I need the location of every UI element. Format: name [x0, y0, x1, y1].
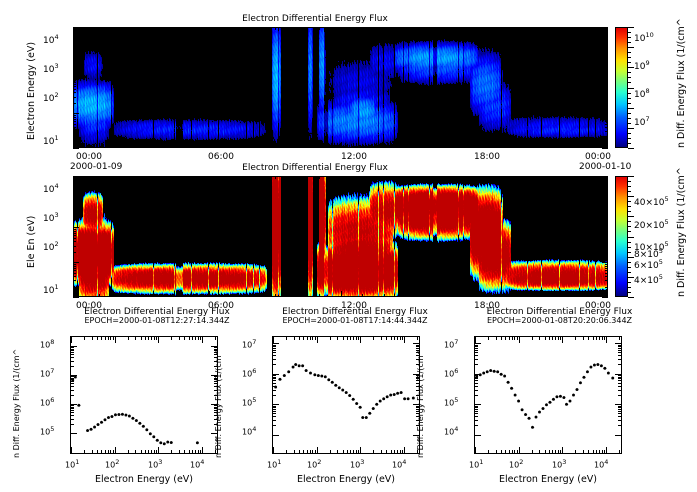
axis-tick: [73, 54, 76, 55]
axis-tick: [297, 294, 298, 297]
axis-tick: [605, 235, 608, 236]
spectrum-1-xtick-2: 102: [105, 458, 119, 470]
axis-tick: [428, 176, 429, 179]
axis-tick: [143, 27, 144, 30]
axis-tick: [605, 49, 608, 50]
axis-tick: [406, 176, 407, 179]
axis-tick: [73, 211, 76, 212]
axis-tick: [319, 27, 320, 30]
axis-tick: [73, 82, 76, 83]
axis-tick: [73, 44, 79, 45]
axis-tick: [605, 196, 608, 197]
axis-tick: [605, 33, 608, 34]
axis-tick: [605, 203, 608, 204]
colorbar-tick: [628, 47, 634, 48]
axis-tick: [605, 121, 608, 122]
colorbar-tick: [628, 287, 631, 288]
axis-tick: [73, 241, 76, 242]
mid-ytick-1: 101: [43, 283, 59, 296]
colorbar-tick: [628, 128, 634, 129]
colorbar-tick: [628, 297, 634, 298]
colorbar-tick: [628, 176, 634, 177]
axis-tick: [73, 113, 79, 114]
axis-tick: [187, 27, 188, 30]
axis-tick: [605, 200, 608, 201]
colorbar-tick: [628, 247, 631, 248]
colorbar-tick: [628, 72, 631, 73]
axis-tick: [99, 176, 100, 179]
colorbar-tick: [628, 282, 631, 283]
axis-tick: [362, 294, 363, 297]
axis-tick: [187, 176, 188, 179]
axis-tick: [605, 211, 608, 212]
spectrum-2-xtick-3: 103: [350, 458, 364, 470]
top-ytick-2: 102: [43, 91, 59, 104]
colorbar-tick: [628, 267, 631, 268]
top-colorbar: [615, 27, 628, 148]
axis-tick: [494, 176, 495, 179]
colorbar-tick: [628, 186, 631, 187]
colorbar-tick: [628, 272, 631, 273]
mid-cbar-tick-20: 20×105: [634, 218, 669, 231]
axis-tick: [143, 145, 144, 148]
axis-tick: [275, 294, 276, 297]
axis-tick: [582, 145, 583, 148]
top-cbar-tick-9: 109: [634, 59, 650, 72]
axis-tick: [450, 27, 451, 30]
axis-tick: [73, 62, 76, 63]
axis-tick: [605, 176, 608, 177]
axis-tick: [297, 27, 298, 30]
colorbar-tick: [628, 181, 631, 182]
spectrum-2-ytick-6: 106: [242, 367, 256, 379]
colorbar-tick: [628, 148, 634, 149]
axis-tick: [450, 176, 451, 179]
axis-tick: [605, 207, 608, 208]
axis-tick: [73, 238, 76, 239]
colorbar-tick: [628, 98, 631, 99]
spectrum-2-points: [273, 337, 419, 453]
axis-tick: [605, 138, 608, 139]
axis-tick: [143, 176, 144, 179]
colorbar-tick: [628, 42, 631, 43]
axis-tick: [73, 138, 76, 139]
colorbar-tick: [628, 108, 634, 109]
axis-tick: [472, 142, 473, 148]
axis-tick: [319, 176, 320, 179]
axis-tick: [99, 294, 100, 297]
axis-tick: [73, 280, 76, 281]
axis-tick: [143, 294, 144, 297]
colorbar-tick: [628, 226, 631, 227]
axis-tick: [73, 229, 76, 230]
top-cbar-tick-10: 1010: [634, 31, 654, 44]
axis-tick: [99, 145, 100, 148]
top-spectrogram-plot: [73, 27, 608, 148]
axis-tick: [73, 266, 76, 267]
axis-tick: [73, 131, 76, 132]
axis-tick: [73, 68, 76, 69]
axis-tick: [231, 176, 232, 179]
top-panel-title: Electron Differential Energy Flux: [0, 14, 630, 24]
axis-tick: [605, 246, 608, 247]
axis-tick: [319, 145, 320, 148]
axis-tick: [605, 270, 608, 271]
axis-tick: [341, 176, 342, 182]
axis-tick: [605, 231, 608, 232]
axis-tick: [605, 86, 608, 87]
axis-tick: [77, 176, 78, 182]
axis-tick: [602, 113, 608, 114]
axis-tick: [605, 238, 608, 239]
spectrum-3-subtitle: EPOCH=2000-01-08T20:20:06.344Z: [452, 316, 667, 325]
axis-tick: [605, 264, 608, 265]
axis-tick: [605, 217, 608, 218]
axis-tick: [209, 176, 210, 182]
colorbar-tick: [628, 196, 634, 197]
axis-tick: [406, 27, 407, 30]
axis-tick: [605, 124, 608, 125]
axis-tick: [605, 182, 608, 183]
spectrum-3-plot: [474, 336, 622, 454]
axis-tick: [605, 47, 608, 48]
axis-tick: [560, 145, 561, 148]
spectrum-3-xlabel: Electron Energy (eV): [474, 474, 622, 485]
axis-tick: [231, 294, 232, 297]
axis-tick: [605, 127, 608, 128]
axis-tick: [275, 176, 276, 179]
colorbar-tick: [628, 252, 631, 253]
axis-tick: [73, 127, 76, 128]
colorbar-tick: [628, 143, 631, 144]
axis-tick: [73, 176, 76, 177]
axis-tick: [73, 287, 76, 288]
axis-tick: [73, 115, 76, 116]
axis-tick: [73, 103, 76, 104]
colorbar-tick: [628, 27, 634, 28]
axis-tick: [516, 294, 517, 297]
top-ytick-3: 103: [43, 62, 59, 75]
axis-tick: [209, 27, 210, 33]
axis-tick: [73, 207, 76, 208]
axis-tick: [73, 262, 79, 263]
colorbar-tick: [628, 138, 631, 139]
axis-tick: [582, 176, 583, 179]
top-xtick-1: 06:00: [208, 152, 234, 162]
axis-tick: [362, 27, 363, 30]
axis-tick: [516, 176, 517, 179]
spectrum-2-xtick-1: 101: [267, 458, 281, 470]
axis-tick: [602, 227, 608, 228]
axis-tick: [165, 176, 166, 179]
axis-tick: [384, 176, 385, 179]
colorbar-tick: [628, 201, 631, 202]
axis-tick: [73, 45, 76, 46]
axis-tick: [605, 194, 608, 195]
axis-tick: [187, 145, 188, 148]
colorbar-tick: [628, 257, 634, 258]
axis-tick: [73, 78, 79, 79]
axis-tick: [99, 27, 100, 30]
axis-tick: [73, 231, 76, 232]
mid-spectrogram-plot: [73, 176, 608, 297]
axis-tick: [73, 198, 76, 199]
axis-tick: [605, 27, 608, 28]
axis-tick: [121, 176, 122, 179]
axis-tick: [73, 86, 76, 87]
axis-tick: [73, 148, 79, 149]
colorbar-tick: [628, 77, 631, 78]
spectrum-2-xlabel: Electron Energy (eV): [272, 474, 420, 485]
axis-tick: [605, 115, 608, 116]
axis-tick: [605, 51, 608, 52]
axis-tick: [494, 145, 495, 148]
spectrum-1-plot: [70, 336, 218, 454]
axis-tick: [605, 241, 608, 242]
top-ytick-4: 104: [43, 33, 59, 46]
axis-tick: [73, 47, 76, 48]
axis-tick: [73, 264, 76, 265]
axis-tick: [253, 294, 254, 297]
axis-tick: [604, 27, 605, 33]
top-xtick-2: 12:00: [341, 152, 367, 162]
colorbar-tick: [628, 231, 631, 232]
axis-tick: [275, 27, 276, 30]
axis-tick: [605, 119, 608, 120]
axis-tick: [472, 27, 473, 33]
axis-tick: [121, 27, 122, 30]
axis-tick: [582, 27, 583, 30]
axis-tick: [165, 145, 166, 148]
axis-tick: [73, 235, 76, 236]
colorbar-tick: [628, 133, 631, 134]
spectrum-1-xtick-3: 103: [148, 458, 162, 470]
axis-tick: [605, 276, 608, 277]
axis-tick: [73, 233, 76, 234]
axis-tick: [253, 27, 254, 30]
colorbar-tick: [628, 262, 631, 263]
mid-ylabel: Ele En (eV): [26, 216, 37, 268]
axis-tick: [605, 280, 608, 281]
axis-tick: [605, 198, 608, 199]
axis-tick: [121, 145, 122, 148]
axis-tick: [73, 89, 76, 90]
colorbar-tick: [628, 123, 631, 124]
axis-tick: [538, 176, 539, 179]
axis-tick: [209, 291, 210, 297]
axis-tick: [73, 276, 76, 277]
axis-tick: [494, 294, 495, 297]
axis-tick: [605, 117, 608, 118]
axis-tick: [121, 294, 122, 297]
top-xtick-0: 00:00: [76, 152, 102, 162]
spectrum-2-ylabel: n Diff. Energy Flux (1/(cm^: [214, 349, 223, 458]
top-cbar-tick-8: 108: [634, 87, 650, 100]
top-ylabel: Electron Energy (eV): [26, 42, 37, 140]
spectrum-2-ytick-7: 107: [242, 338, 256, 350]
axis-tick: [253, 145, 254, 148]
axis-tick: [73, 117, 76, 118]
axis-tick: [605, 252, 608, 253]
axis-tick: [73, 80, 76, 81]
mid-panel-title: Electron Differential Energy Flux: [0, 163, 630, 173]
axis-tick: [605, 229, 608, 230]
spectrum-2-plot: [272, 336, 420, 454]
mid-cbar-tick-6: 6×105: [634, 258, 663, 271]
top-colorbar-label: n Diff. Energy Flux (1/(cm^: [676, 18, 687, 148]
axis-tick: [73, 273, 76, 274]
colorbar-tick: [628, 88, 634, 89]
spectrum-3-ytick-7: 107: [444, 338, 458, 350]
axis-tick: [428, 27, 429, 30]
axis-tick: [604, 291, 605, 297]
axis-tick: [73, 200, 76, 201]
axis-tick: [406, 294, 407, 297]
spectrum-1-ytick-6: 106: [40, 396, 54, 408]
axis-tick: [560, 27, 561, 30]
spectrum-1-ytick-5: 105: [40, 425, 54, 437]
mid-cbar-tick-40: 40×105: [634, 195, 669, 208]
axis-tick: [602, 262, 608, 263]
axis-tick: [428, 294, 429, 297]
spectrum-2-subtitle: EPOCH=2000-01-08T17:14:44.344Z: [250, 316, 460, 325]
axis-tick: [538, 294, 539, 297]
colorbar-tick: [628, 32, 631, 33]
axis-tick: [165, 27, 166, 30]
axis-tick: [73, 27, 76, 28]
axis-tick: [605, 82, 608, 83]
colorbar-tick: [628, 206, 631, 207]
axis-tick: [231, 145, 232, 148]
axis-tick: [297, 176, 298, 179]
axis-tick: [560, 176, 561, 179]
axis-tick: [450, 294, 451, 297]
mid-ytick-4: 104: [43, 182, 59, 195]
axis-tick: [516, 145, 517, 148]
colorbar-tick: [628, 103, 631, 104]
axis-tick: [538, 145, 539, 148]
axis-tick: [384, 27, 385, 30]
spectrum-1-xlabel: Electron Energy (eV): [70, 474, 218, 485]
axis-tick: [472, 176, 473, 182]
axis-tick: [73, 194, 76, 195]
axis-tick: [341, 142, 342, 148]
colorbar-tick: [628, 67, 634, 68]
axis-tick: [73, 246, 76, 247]
spectrum-1-ylabel: n Diff. Energy Flux (1/(cm^: [12, 349, 21, 458]
axis-tick: [605, 92, 608, 93]
mid-colorbar-label: n Diff. Energy Flux (1/(cm^: [676, 167, 687, 297]
axis-tick: [602, 148, 608, 149]
axis-tick: [605, 45, 608, 46]
axis-tick: [73, 92, 76, 93]
axis-tick: [341, 27, 342, 33]
axis-tick: [73, 33, 76, 34]
spectrum-3-points: [475, 337, 621, 453]
mid-ytick-2: 102: [43, 240, 59, 253]
mid-spectrogram-image: [74, 177, 607, 296]
colorbar-tick: [628, 93, 631, 94]
axis-tick: [362, 176, 363, 179]
spectrum-1-ytick-8: 108: [40, 338, 54, 350]
colorbar-tick: [628, 113, 631, 114]
spectrum-2-xtick-2: 102: [307, 458, 321, 470]
axis-tick: [319, 294, 320, 297]
colorbar-tick: [628, 221, 631, 222]
axis-tick: [605, 54, 608, 55]
colorbar-tick: [628, 118, 631, 119]
colorbar-tick: [628, 62, 631, 63]
axis-tick: [77, 27, 78, 33]
axis-tick: [253, 176, 254, 179]
colorbar-tick: [628, 191, 631, 192]
axis-tick: [73, 84, 76, 85]
mid-colorbar: [615, 176, 628, 297]
axis-tick: [602, 44, 608, 45]
axis-tick: [73, 297, 79, 298]
axis-tick: [605, 80, 608, 81]
axis-tick: [297, 145, 298, 148]
axis-tick: [406, 145, 407, 148]
spectrum-1-xtick-1: 101: [65, 458, 79, 470]
axis-tick: [605, 84, 608, 85]
spectrum-3-xtick-2: 102: [509, 458, 523, 470]
axis-tick: [73, 124, 76, 125]
axis-tick: [73, 270, 76, 271]
colorbar-tick: [628, 292, 631, 293]
axis-tick: [472, 291, 473, 297]
spectrum-3-xtick-3: 103: [552, 458, 566, 470]
spectrum-2-ytick-5: 105: [242, 396, 256, 408]
spectrum-1-xtick-4: 104: [190, 458, 204, 470]
mid-ytick-3: 103: [43, 211, 59, 224]
colorbar-tick: [628, 242, 631, 243]
spectrum-3-xtick-1: 101: [469, 458, 483, 470]
axis-tick: [73, 182, 76, 183]
axis-tick: [73, 203, 76, 204]
axis-tick: [73, 217, 76, 218]
colorbar-tick: [628, 57, 631, 58]
axis-tick: [560, 294, 561, 297]
axis-tick: [602, 297, 608, 298]
axis-tick: [209, 142, 210, 148]
spectrum-1-points: [71, 337, 217, 453]
axis-tick: [341, 291, 342, 297]
axis-tick: [604, 142, 605, 148]
axis-tick: [428, 145, 429, 148]
axis-tick: [605, 103, 608, 104]
axis-tick: [187, 294, 188, 297]
axis-tick: [73, 51, 76, 52]
axis-tick: [73, 49, 76, 50]
axis-tick: [605, 273, 608, 274]
mid-cbar-tick-4: 4×105: [634, 273, 663, 286]
axis-tick: [384, 294, 385, 297]
colorbar-tick: [628, 237, 634, 238]
spectrum-1-subtitle: EPOCH=2000-01-08T12:27:14.344Z: [57, 316, 257, 325]
axis-tick: [582, 294, 583, 297]
top-spectrogram-image: [74, 28, 607, 147]
axis-tick: [77, 291, 78, 297]
colorbar-tick: [628, 82, 631, 83]
axis-tick: [73, 193, 79, 194]
axis-tick: [73, 119, 76, 120]
axis-tick: [494, 27, 495, 30]
axis-tick: [516, 27, 517, 30]
axis-tick: [605, 131, 608, 132]
colorbar-tick: [628, 37, 631, 38]
spectrum-3-xtick-4: 104: [594, 458, 608, 470]
